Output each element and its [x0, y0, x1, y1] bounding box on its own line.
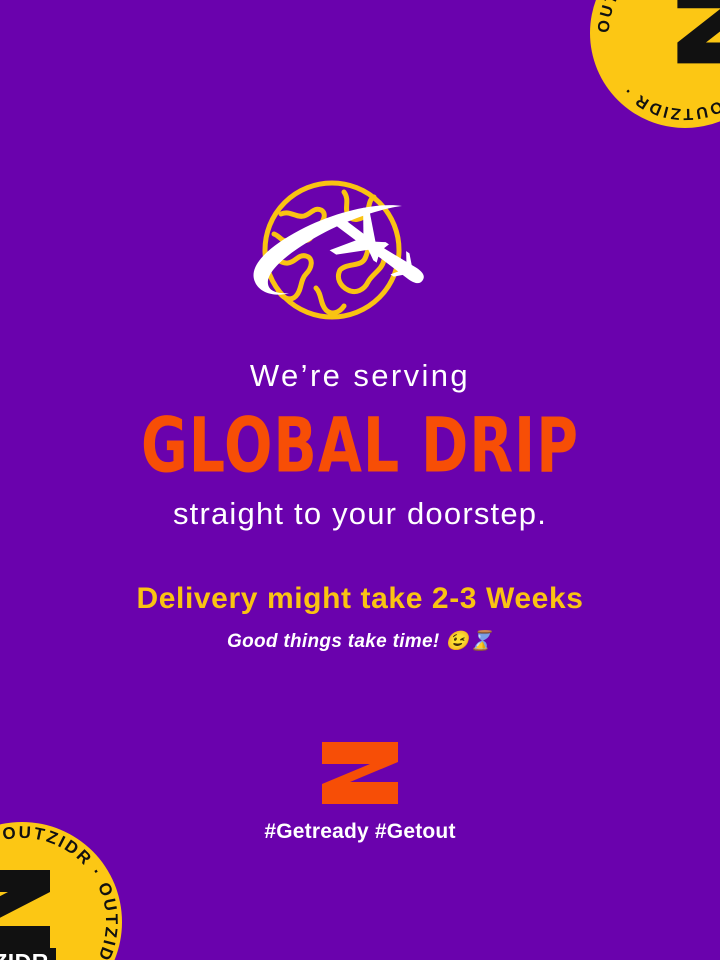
headline-text: GLOBAL DRIP: [29, 408, 691, 484]
badge-wordmark-text: OUTZIDR: [0, 949, 49, 960]
poster-canvas: OUTZIDR · OUTZIDR · OUTZIDR · OUTZIDR ·: [0, 0, 720, 960]
eyebrow-text: We’re serving: [0, 358, 720, 394]
z-logo-mark: [677, 0, 720, 63]
outzidr-badge-bottom-left: OUTZIDR · OUTZIDR · OUTZIDR · OUTZIDR · …: [0, 822, 122, 960]
badge-wordmark: OUTZIDR: [0, 948, 56, 960]
delivery-estimate-text: Delivery might take 2-3 Weeks: [0, 581, 720, 617]
z-logo-mark: [320, 742, 400, 804]
hero-illustration: [0, 168, 720, 344]
outzidr-badge-top-right: OUTZIDR · OUTZIDR · OUTZIDR · OUTZIDR ·: [590, 0, 720, 128]
tagline-text: Good things take time! 😉⌛: [0, 631, 720, 654]
subhead-text: straight to your doorstep.: [0, 496, 720, 532]
copy-block: We’re serving GLOBAL DRIP straight to yo…: [0, 358, 720, 654]
z-logo-mark: [0, 870, 50, 948]
